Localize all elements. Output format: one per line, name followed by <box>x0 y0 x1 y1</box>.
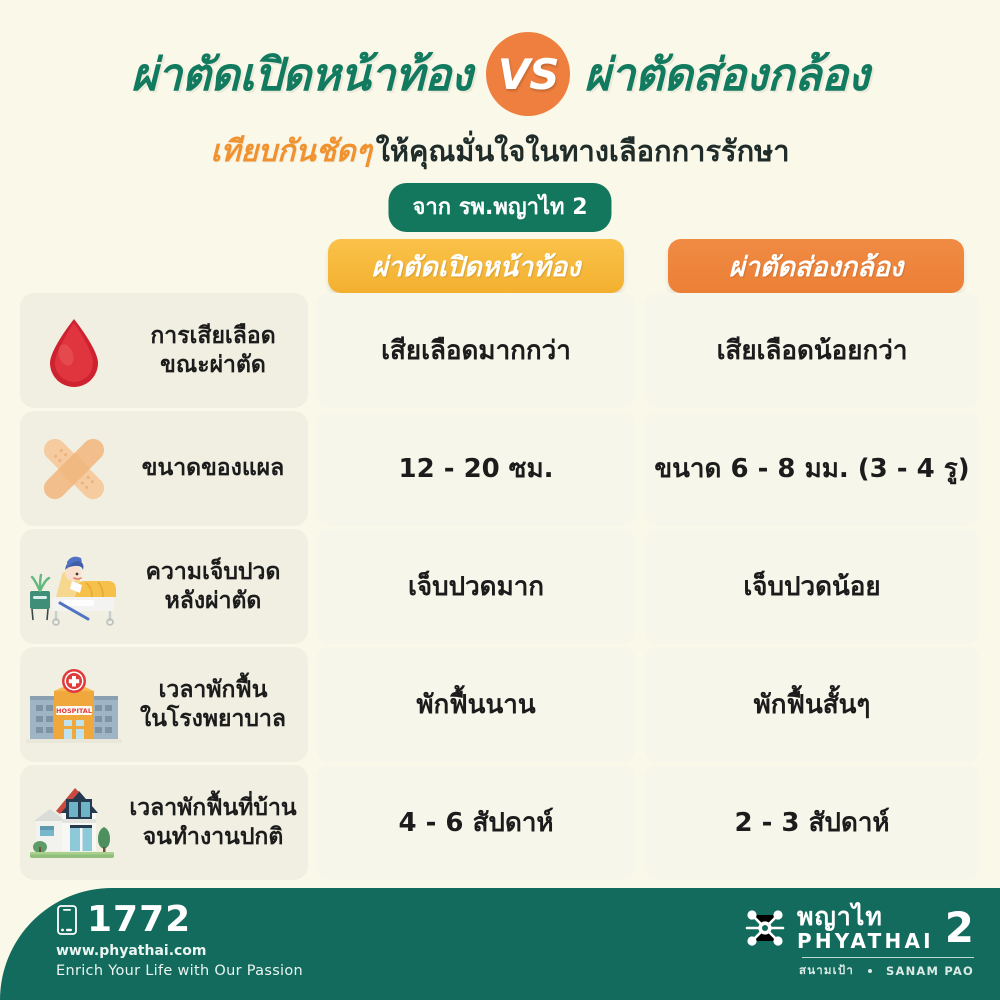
phyathai-molecule-logo-icon <box>742 905 788 951</box>
row-label-cell: เวลาพักฟื้นที่บ้าน จนทำงานปกติ <box>20 765 308 880</box>
vs-label: VS <box>498 50 559 99</box>
title-left-text: ผ่าตัดเปิดหน้าท้อง <box>131 38 472 110</box>
row-label-text: เวลาพักฟื้น ในโรงพยาบาล <box>126 676 300 732</box>
column-gap <box>636 765 644 880</box>
column-header-open-surgery: ผ่าตัดเปิดหน้าท้อง <box>328 239 624 293</box>
column-header-open-label: ผ่าตัดเปิดหน้าท้อง <box>372 245 581 288</box>
row-value-lap: พักฟื้นสั้นๆ <box>644 647 980 762</box>
footer-website[interactable]: www.phyathai.com <box>56 943 303 959</box>
column-gap <box>308 765 316 880</box>
row-value-open: 12 - 20 ซม. <box>316 411 636 526</box>
subtitle-highlight: เทียบกันชัดๆ <box>210 134 371 169</box>
row-value-lap: ขนาด 6 - 8 มม. (3 - 4 รู) <box>644 411 980 526</box>
row-label-text: ความเจ็บปวด หลังผ่าตัด <box>126 558 300 614</box>
comparison-table: การเสียเลือด ขณะผ่าตัด เสียเลือดมากกว่า … <box>20 293 980 883</box>
logo-english-name: PHYATHAI <box>797 931 934 951</box>
logo-divider <box>802 957 974 958</box>
row-label-text: ขนาดของแผล <box>126 454 300 482</box>
table-row: ความเจ็บปวด หลังผ่าตัด เจ็บปวดมาก เจ็บปว… <box>20 529 980 644</box>
column-header-laparoscopic: ผ่าตัดส่องกล้อง <box>668 239 964 293</box>
subtitle: เทียบกันชัดๆให้คุณมั่นใจในทางเลือกการรัก… <box>0 128 1000 175</box>
column-gap <box>636 293 644 408</box>
mobile-phone-icon <box>56 904 78 936</box>
blood-drop-icon <box>26 309 122 393</box>
row-label-text: การเสียเลือด ขณะผ่าตัด <box>126 322 300 378</box>
hospital-building-icon: HOSPITAL <box>26 663 122 747</box>
footer-contact: 1772 www.phyathai.com Enrich Your Life w… <box>56 902 303 979</box>
column-gap <box>636 411 644 526</box>
column-header-lap-label: ผ่าตัดส่องกล้อง <box>729 245 903 288</box>
footer-logo: พญาไท PHYATHAI 2 สนามเป้า SANAM PAO <box>742 904 974 980</box>
footer-tagline: Enrich Your Life with Our Passion <box>56 963 303 979</box>
title-right-text: ผ่าตัดส่องกล้อง <box>584 38 869 110</box>
row-value-lap: เสียเลือดน้อยกว่า <box>644 293 980 408</box>
svg-text:HOSPITAL: HOSPITAL <box>56 707 92 715</box>
hospital-bed-patient-icon <box>26 545 122 629</box>
source-pill: จาก รพ.พญาไท 2 <box>388 183 611 232</box>
column-gap <box>308 293 316 408</box>
row-value-lap: เจ็บปวดน้อย <box>644 529 980 644</box>
logo-thai-name: พญาไท <box>797 904 934 929</box>
row-label-cell: ความเจ็บปวด หลังผ่าตัด <box>20 529 308 644</box>
logo-row: พญาไท PHYATHAI 2 <box>742 904 974 951</box>
branch-thai: สนามเป้า <box>799 962 854 980</box>
branch-row: สนามเป้า SANAM PAO <box>799 962 974 980</box>
column-gap <box>308 647 316 762</box>
branch-english: SANAM PAO <box>886 964 974 978</box>
row-value-open: เจ็บปวดมาก <box>316 529 636 644</box>
row-value-open: 4 - 6 สัปดาห์ <box>316 765 636 880</box>
table-row: ขนาดของแผล 12 - 20 ซม. ขนาด 6 - 8 มม. (3… <box>20 411 980 526</box>
vs-badge: VS <box>486 32 570 116</box>
row-label-cell: ขนาดของแผล <box>20 411 308 526</box>
crossed-bandages-icon <box>26 427 122 511</box>
row-value-open: เสียเลือดมากกว่า <box>316 293 636 408</box>
row-label-cell: การเสียเลือด ขณะผ่าตัด <box>20 293 308 408</box>
row-label-text: เวลาพักฟื้นที่บ้าน จนทำงานปกติ <box>126 794 300 850</box>
column-gap <box>308 411 316 526</box>
infographic-root: ผ่าตัดเปิดหน้าท้อง VS ผ่าตัดส่องกล้อง เท… <box>0 0 1000 1000</box>
row-label-cell: HOSPITAL <box>20 647 308 762</box>
table-row: HOSPITAL <box>20 647 980 762</box>
subtitle-rest: ให้คุณมั่นใจในทางเลือกการรักษา <box>376 134 790 168</box>
row-value-lap: 2 - 3 สัปดาห์ <box>644 765 980 880</box>
column-gap <box>308 529 316 644</box>
bullet-dot-icon <box>868 969 872 973</box>
footer-phone-number: 1772 <box>87 902 191 938</box>
house-icon <box>26 781 122 865</box>
main-title: ผ่าตัดเปิดหน้าท้อง VS ผ่าตัดส่องกล้อง <box>0 28 1000 120</box>
row-value-open: พักฟื้นนาน <box>316 647 636 762</box>
table-row: การเสียเลือด ขณะผ่าตัด เสียเลือดมากกว่า … <box>20 293 980 408</box>
footer-bar: 1772 www.phyathai.com Enrich Your Life w… <box>0 888 1000 1000</box>
logo-words: พญาไท PHYATHAI <box>797 904 934 951</box>
column-gap <box>636 647 644 762</box>
column-gap <box>636 529 644 644</box>
table-row: เวลาพักฟื้นที่บ้าน จนทำงานปกติ 4 - 6 สัป… <box>20 765 980 880</box>
logo-branch-number: 2 <box>945 907 974 949</box>
footer-phone-row[interactable]: 1772 <box>56 902 303 938</box>
